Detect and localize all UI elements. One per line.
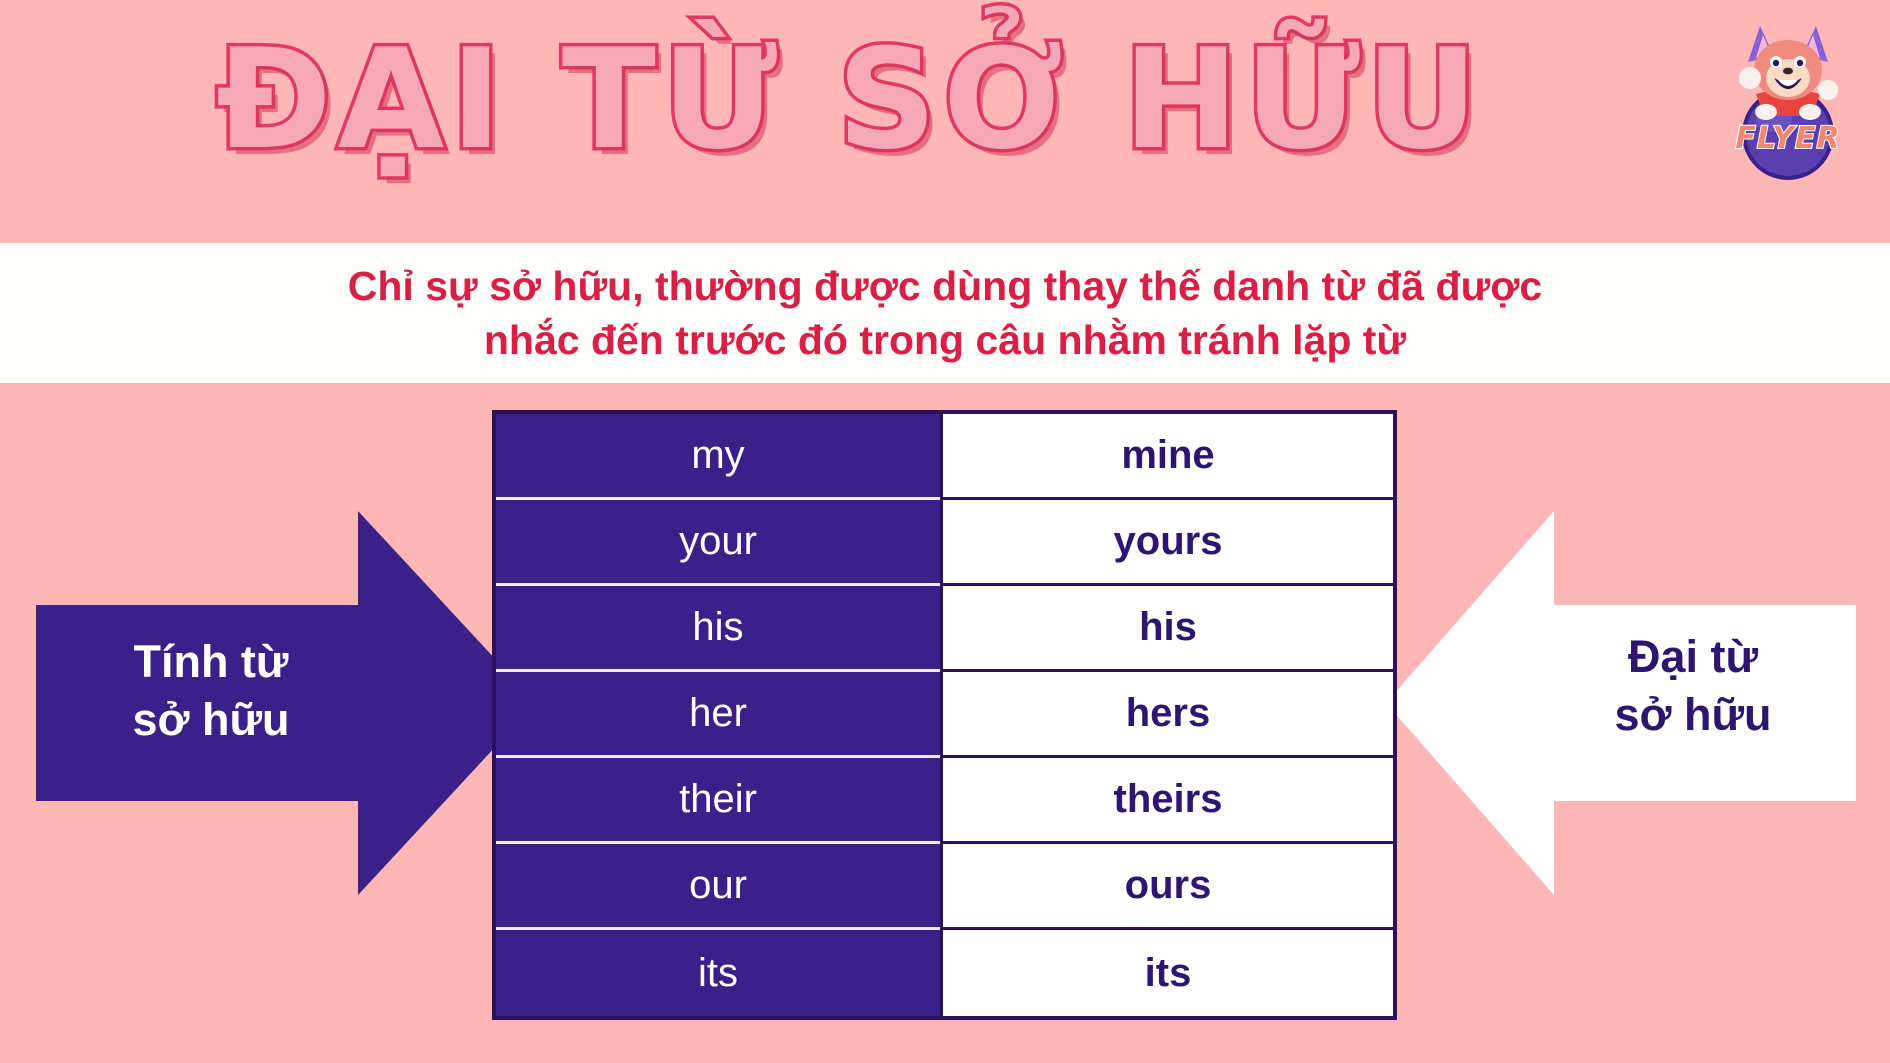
adjective-cell: my <box>496 414 940 500</box>
table-row: our ours <box>496 844 1393 930</box>
adjective-cell: their <box>496 758 940 844</box>
pronoun-cell: yours <box>940 500 1393 586</box>
subtitle-band: Chỉ sự sở hữu, thường được dùng thay thế… <box>0 243 1890 383</box>
flyer-logo: FLYER <box>1708 8 1868 180</box>
adjective-cell: her <box>496 672 940 758</box>
possessive-table: my mine your yours his his her hers thei… <box>492 410 1397 1020</box>
pronoun-cell: his <box>940 586 1393 672</box>
adjective-cell: our <box>496 844 940 930</box>
pronoun-cell: ours <box>940 844 1393 930</box>
subtitle-line-1: Chỉ sự sở hữu, thường được dùng thay thế… <box>348 259 1542 313</box>
table-row: my mine <box>496 414 1393 500</box>
adjective-cell: its <box>496 930 940 1016</box>
table-row: its its <box>496 930 1393 1016</box>
table-row: his his <box>496 586 1393 672</box>
subtitle-line-2: nhắc đến trước đó trong câu nhằm tránh l… <box>484 313 1406 367</box>
pronoun-cell: mine <box>940 414 1393 500</box>
diagram-area: Tính từ sở hữu my mine your yours his hi… <box>0 383 1890 1063</box>
possessive-adjective-label: Tính từ sở hữu <box>66 633 356 748</box>
header-band: ĐẠI TỪ SỞ HỮU <box>0 0 1890 243</box>
infographic-canvas: ĐẠI TỪ SỞ HỮU <box>0 0 1890 1063</box>
pronoun-cell: theirs <box>940 758 1393 844</box>
pronoun-cell: hers <box>940 672 1393 758</box>
flyer-wordmark: FLYER <box>1735 121 1840 156</box>
adjective-cell: your <box>496 500 940 586</box>
possessive-pronoun-label: Đại từ sở hữu <box>1548 628 1838 743</box>
possessive-pronoun-arrow: Đại từ sở hữu <box>1386 493 1856 913</box>
table-row: their theirs <box>496 758 1393 844</box>
page-title: ĐẠI TỪ SỞ HỮU <box>0 28 1700 173</box>
adjective-cell: his <box>496 586 940 672</box>
table-row: your yours <box>496 500 1393 586</box>
pronoun-cell: its <box>940 930 1393 1016</box>
possessive-adjective-arrow: Tính từ sở hữu <box>36 493 536 913</box>
table-row: her hers <box>496 672 1393 758</box>
